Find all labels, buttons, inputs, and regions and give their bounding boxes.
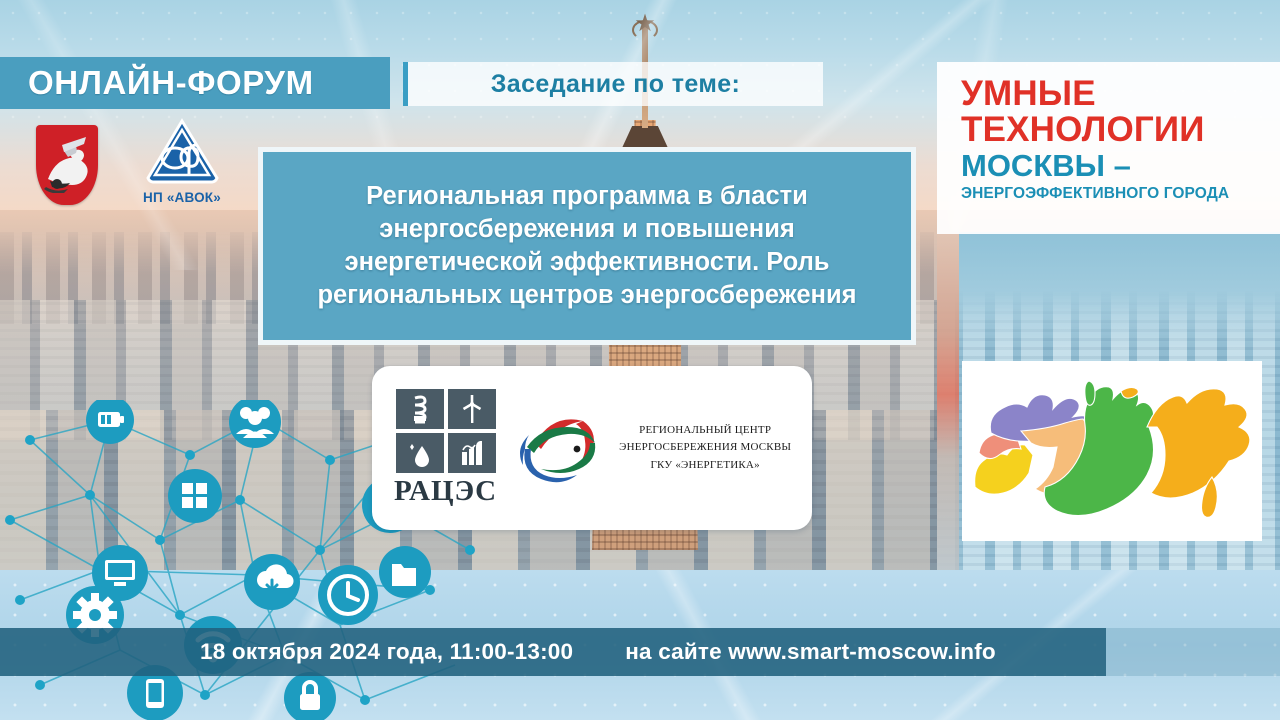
power-plant-icon bbox=[448, 433, 496, 473]
rc-line-2: ЭНЕРГОСБЕРЕЖЕНИЯ МОСКВЫ bbox=[619, 439, 791, 456]
map-region-far-east bbox=[1147, 389, 1250, 498]
event-info-bar: 18 октября 2024 года, 11:00-13:00 на сай… bbox=[0, 628, 1106, 676]
online-forum-label: ОНЛАЙН-ФОРУМ bbox=[28, 64, 314, 102]
poster-canvas: ★ bbox=[0, 0, 1280, 720]
regional-center-logo: РЕГИОНАЛЬНЫЙ ЦЕНТР ЭНЕРГОСБЕРЕЖЕНИЯ МОСК… bbox=[515, 405, 791, 491]
racyes-acronym: РАЦЭС bbox=[394, 475, 497, 508]
main-title-panel: Региональная программа в бласти энергосб… bbox=[258, 147, 916, 345]
racyes-logo: РАЦЭС bbox=[394, 389, 497, 508]
smart-line-1: УМНЫЕ bbox=[961, 76, 1280, 112]
russia-federal-districts-map bbox=[969, 369, 1255, 533]
fish-swoosh-icon bbox=[515, 405, 607, 491]
msu-star-icon: ★ bbox=[633, 12, 657, 36]
map-region-taimyr bbox=[1085, 381, 1095, 405]
event-website: на сайте www.smart-moscow.info bbox=[625, 639, 996, 665]
regional-center-text: РЕГИОНАЛЬНЫЙ ЦЕНТР ЭНЕРГОСБЕРЕЖЕНИЯ МОСК… bbox=[619, 422, 791, 473]
event-date: 18 октября 2024 года, 11:00-13:00 bbox=[200, 639, 573, 665]
smart-technologies-card: УМНЫЕ ТЕХНОЛОГИИ МОСКВЫ – ЭНЕРГОЭФФЕКТИВ… bbox=[937, 62, 1280, 234]
topic-label: Заседание по теме: bbox=[491, 70, 741, 99]
moscow-coat-of-arms-icon bbox=[36, 125, 98, 205]
rc-line-3: ГКУ «ЭНЕРГЕТИКА» bbox=[619, 457, 791, 474]
rc-line-1: РЕГИОНАЛЬНЫЙ ЦЕНТР bbox=[619, 422, 791, 439]
topic-banner: Заседание по теме: bbox=[403, 62, 823, 106]
avok-caption: НП «АВОК» bbox=[134, 190, 230, 205]
organizer-logo-card: РАЦЭС РЕГИОНАЛЬНЫЙ ЦЕНТР ЭНЕРГОСБЕРЕЖЕНИ… bbox=[372, 366, 812, 530]
page-title: Региональная программа в бласти энергосб… bbox=[263, 180, 911, 313]
wind-turbine-icon bbox=[448, 389, 496, 429]
smart-line-4: ЭНЕРГОЭФФЕКТИВНОГО ГОРОДА bbox=[961, 185, 1280, 203]
avok-logo: НП «АВОК» bbox=[134, 118, 230, 205]
russia-map-card bbox=[962, 361, 1262, 541]
smart-line-3: МОСКВЫ – bbox=[961, 149, 1280, 182]
right-panel-left-strip bbox=[937, 232, 959, 620]
emblems-group: НП «АВОК» bbox=[36, 118, 230, 205]
avok-mark-icon bbox=[143, 118, 221, 184]
smart-line-2: ТЕХНОЛОГИИ bbox=[961, 112, 1280, 148]
online-forum-banner: ОНЛАЙН-ФОРУМ bbox=[0, 57, 390, 109]
racyes-icon-grid bbox=[396, 389, 496, 473]
info-bar-tail bbox=[1106, 628, 1280, 676]
water-drop-icon bbox=[396, 433, 444, 473]
windows-tiles-icon bbox=[168, 469, 222, 523]
cfl-bulb-icon bbox=[396, 389, 444, 429]
